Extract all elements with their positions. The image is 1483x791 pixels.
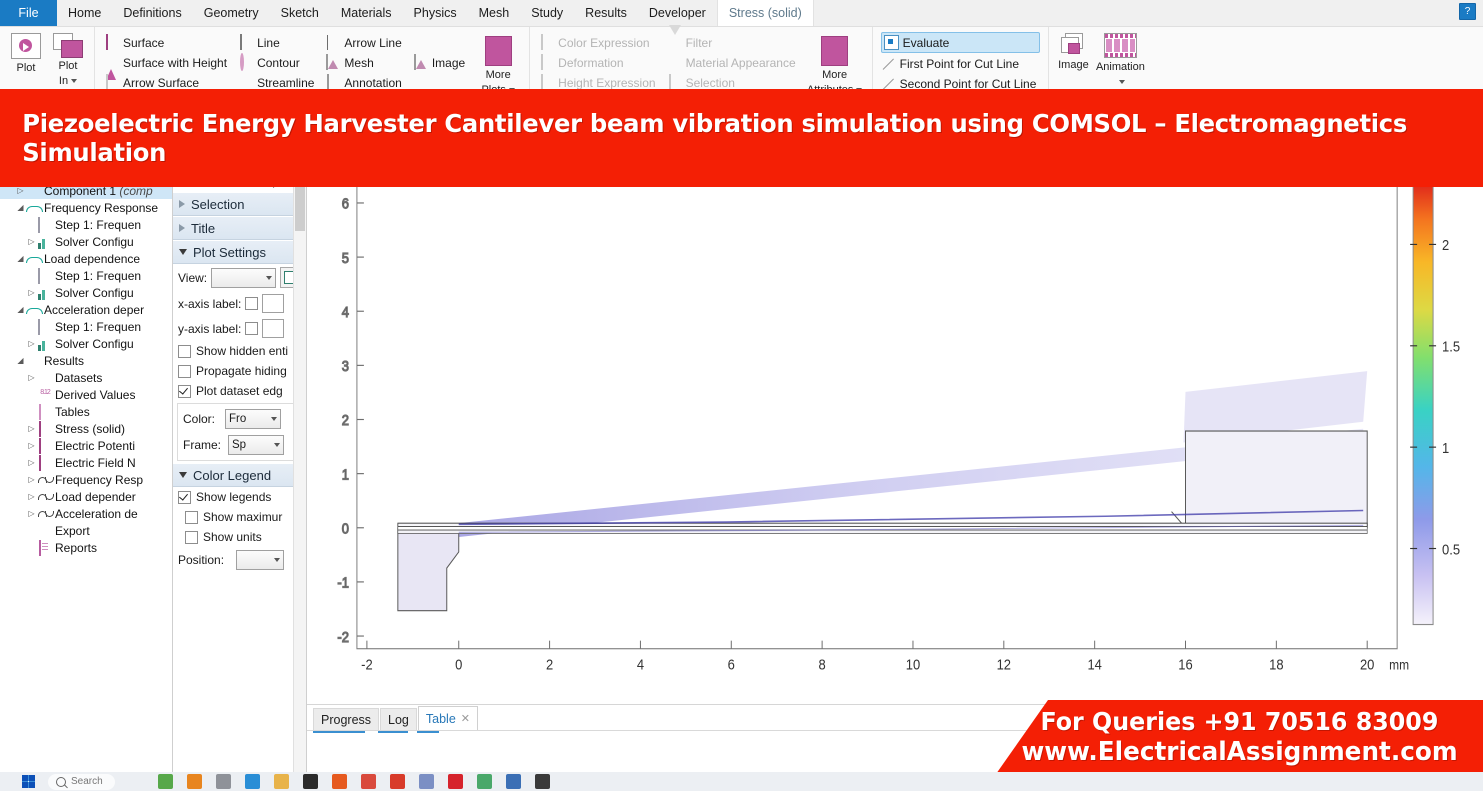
svg-text:2: 2	[546, 656, 553, 673]
expand-arrow-icon[interactable]: ▷	[26, 471, 37, 488]
ribbon-item-filter: Filter	[666, 33, 800, 52]
chevron-down-icon	[179, 472, 187, 478]
xaxis-label-caption: x-axis label:	[178, 297, 241, 311]
menu-item-definitions[interactable]: Definitions	[112, 0, 192, 26]
surface-height-icon	[104, 55, 119, 70]
app-icon-terminal[interactable]	[303, 774, 318, 789]
tree-node-export[interactable]: Export	[0, 522, 172, 539]
svg-text:12: 12	[997, 656, 1012, 673]
study-wave-icon	[26, 201, 41, 215]
ribbon-group-plot-types: Surface Surface with Height Arrow Surfac…	[95, 27, 530, 96]
tree-node-reports[interactable]: Reports	[0, 539, 172, 556]
top-banner-title: Piezoelectric Energy Harvester Cantileve…	[22, 109, 1461, 167]
yaxis-label-caption: y-axis label:	[178, 322, 241, 336]
frame-caption: Frame:	[183, 438, 221, 452]
tree-node-label: Step 1: Frequen	[55, 269, 141, 283]
app-icon-matlab[interactable]	[419, 774, 434, 789]
svg-text:0: 0	[342, 520, 349, 537]
collapse-arrow-icon[interactable]: ◢	[15, 199, 26, 216]
settings-scrollbar[interactable]: ▲ ▼	[293, 97, 306, 791]
tree-node-solver-configu[interactable]: ▷Solver Configu	[0, 335, 172, 352]
expand-arrow-icon[interactable]: ▷	[26, 488, 37, 505]
xaxis-label-checkbox[interactable]	[245, 297, 258, 310]
tree-node-label: Electric Field N	[55, 456, 136, 470]
tree-node-datasets[interactable]: ▷Datasets	[0, 369, 172, 386]
tree-node-label: Frequency Resp	[55, 473, 143, 487]
app-icon-orange[interactable]	[187, 774, 202, 789]
deformation-icon	[539, 55, 554, 70]
tab-progress[interactable]: Progress	[313, 708, 379, 730]
plot-group-icon	[37, 422, 52, 436]
svg-text:20: 20	[1360, 656, 1375, 673]
taskbar-search-box[interactable]: Search	[48, 774, 115, 790]
menu-item-stress-solid[interactable]: Stress (solid)	[717, 0, 814, 26]
image-button[interactable]: Image	[1054, 29, 1092, 96]
svg-text:5: 5	[342, 249, 349, 266]
animation-button[interactable]: Animation	[1092, 29, 1148, 96]
tree-node-results[interactable]: ◢Results	[0, 352, 172, 369]
chevron-right-icon	[179, 224, 185, 232]
svg-text:0: 0	[455, 656, 462, 673]
chevron-down-icon	[274, 558, 280, 562]
tree-node-load-dependence[interactable]: ◢Load dependence	[0, 250, 172, 267]
chevron-down-icon	[274, 443, 280, 447]
image-icon	[1060, 33, 1087, 56]
app-icon-comsol[interactable]	[477, 774, 492, 789]
app-icon-ansys[interactable]	[448, 774, 463, 789]
search-placeholder: Search	[71, 776, 103, 787]
curve-plot-icon	[37, 473, 52, 487]
tree-node-frequency-response[interactable]: ◢Frequency Response	[0, 199, 172, 216]
windows-taskbar: Search	[0, 772, 1483, 791]
search-icon	[56, 777, 66, 787]
menu-item-results[interactable]: Results	[574, 0, 638, 26]
tree-node-label: Acceleration deper	[44, 303, 144, 317]
svg-text:8: 8	[819, 656, 826, 673]
svg-text:-2: -2	[361, 656, 373, 673]
help-icon[interactable]: ?	[1459, 3, 1476, 20]
app-icon-folder[interactable]	[274, 774, 289, 789]
plot-dataset-edges-checkbox[interactable]	[178, 385, 191, 398]
tree-node-acceleration-de[interactable]: ▷Acceleration de	[0, 505, 172, 522]
ribbon-toolbar: Plot Plot In Surface Surface with Height…	[0, 27, 1483, 97]
ribbon-col-attr-1: Color Expression Deformation Height Expr…	[535, 29, 662, 96]
color-caption: Color:	[183, 412, 215, 426]
frame-row: Frame: Sp	[178, 432, 301, 458]
tab-underline-progress	[313, 731, 365, 733]
tree-node-stress-solid[interactable]: ▷Stress (solid)	[0, 420, 172, 437]
tables-icon	[37, 405, 52, 419]
chevron-right-icon	[179, 200, 185, 208]
color-expression-icon	[539, 35, 554, 50]
expand-arrow-icon[interactable]: ▷	[26, 335, 37, 352]
collapse-arrow-icon[interactable]: ◢	[15, 352, 26, 369]
ribbon-item-image[interactable]: Image	[412, 53, 469, 72]
view-caption: View:	[178, 271, 207, 285]
view-row: View:	[173, 264, 306, 291]
svg-text:18: 18	[1269, 656, 1284, 673]
ribbon-group-export: Image Animation	[1049, 27, 1153, 96]
more-plots-icon	[485, 36, 512, 66]
ribbon-col-1: Surface Surface with Height Arrow Surfac…	[100, 29, 234, 96]
evaluate-icon	[884, 35, 899, 50]
tree-node-label: Frequency Response	[44, 201, 158, 215]
plot-group-icon	[37, 456, 52, 470]
svg-text:1: 1	[342, 466, 349, 483]
close-icon[interactable]: ✕	[461, 712, 470, 725]
tree-node-label: Load dependence	[44, 252, 140, 266]
curve-plot-icon	[37, 507, 52, 521]
tree-node-electric-field-n[interactable]: ▷Electric Field N	[0, 454, 172, 471]
ribbon-col-eval: Evaluate First Point for Cut Line Second…	[878, 29, 1044, 96]
stress-surface-plot[interactable]: 7 6 5 4 3 2 1 0 -1 -2 -2 0	[307, 97, 1483, 704]
app-icon-edge[interactable]	[245, 774, 260, 789]
chevron-down-icon	[271, 417, 277, 421]
tab-underline-log	[378, 731, 408, 733]
tree-node-solver-configu[interactable]: ▷Solver Configu	[0, 284, 172, 301]
study-step-icon	[37, 269, 52, 283]
ribbon-group-attributes: Color Expression Deformation Height Expr…	[530, 27, 872, 96]
tree-node-label: Acceleration de	[55, 507, 138, 521]
show-units-row[interactable]: Show units	[173, 527, 306, 547]
tree-node-label: Solver Configu	[55, 337, 134, 351]
tab-log[interactable]: Log	[380, 708, 417, 730]
yaxis-label-checkbox[interactable]	[245, 322, 258, 335]
study-step-icon	[37, 320, 52, 334]
plot-button[interactable]: Plot	[5, 29, 47, 96]
svg-text:4: 4	[637, 656, 644, 673]
settings-panel: Label: Stress ( Data Dataset: Parameter …	[173, 97, 307, 791]
tree-node-step-1-frequen[interactable]: Step 1: Frequen	[0, 216, 172, 233]
workspace: ◢piezoelectric_energy_h◢Global Definitio…	[0, 97, 1483, 791]
chevron-down-icon	[1119, 80, 1125, 84]
tree-node-step-1-frequen[interactable]: Step 1: Frequen	[0, 318, 172, 335]
solver-icon	[37, 235, 52, 249]
show-legends-row[interactable]: Show legends	[173, 487, 306, 507]
show-legends-checkbox[interactable]	[178, 491, 191, 504]
more-attributes-icon	[821, 36, 848, 66]
tree-node-label: Solver Configu	[55, 235, 134, 249]
graphics-window: Surface: von Mises stress (peak) (N/m²)	[307, 97, 1483, 791]
chevron-down-icon	[71, 79, 77, 83]
model-tree-list[interactable]: ◢piezoelectric_energy_h◢Global Definitio…	[0, 97, 172, 772]
section-color-legend[interactable]: Color Legend	[173, 463, 306, 487]
open-square-icon	[238, 35, 253, 50]
queries-phone-line: For Queries +91 70516 83009	[1041, 707, 1439, 736]
arrow-surface-icon	[104, 75, 119, 90]
tree-node-step-1-frequen[interactable]: Step 1: Frequen	[0, 267, 172, 284]
color-legend: ×107 2 1.5 1 0.5	[1410, 117, 1460, 624]
tree-node-derived-values[interactable]: 8.12Derived Values	[0, 386, 172, 403]
bottom-promo-banner: For Queries +91 70516 83009 www.Electric…	[996, 700, 1483, 774]
solver-icon	[37, 286, 52, 300]
ribbon-item-color-expression: Color Expression	[538, 33, 659, 52]
svg-text:6: 6	[728, 656, 735, 673]
ribbon-item-surface[interactable]: Surface	[103, 33, 231, 52]
image-plot-icon	[413, 55, 428, 70]
svg-text:2: 2	[1442, 236, 1449, 253]
expand-arrow-icon[interactable]: ▷	[26, 437, 37, 454]
plot-icon	[11, 33, 41, 59]
svg-text:-2: -2	[337, 628, 349, 645]
height-expression-icon	[539, 75, 554, 90]
ribbon-item-mesh[interactable]: Mesh	[324, 53, 405, 72]
tree-node-label: Datasets	[55, 371, 102, 385]
plot-in-icon	[53, 33, 83, 57]
menu-item-physics[interactable]: Physics	[403, 0, 468, 26]
derived-values-icon: 8.12	[37, 388, 52, 402]
xaxis-label-row: x-axis label:	[173, 291, 306, 316]
frame-select[interactable]: Sp	[228, 435, 284, 455]
tree-node-label: Step 1: Frequen	[55, 320, 141, 334]
tree-node-load-depender[interactable]: ▷Load depender	[0, 488, 172, 505]
tree-node-tables[interactable]: Tables	[0, 403, 172, 420]
tree-node-solver-configu[interactable]: ▷Solver Configu	[0, 233, 172, 250]
tree-node-label: Derived Values	[55, 388, 135, 402]
tree-node-label: Export	[55, 524, 90, 538]
app-icon-green[interactable]	[158, 774, 173, 789]
tab-table[interactable]: Table ✕	[418, 706, 478, 730]
taskbar-app-list	[158, 774, 550, 789]
plot-canvas[interactable]: Surface: von Mises stress (peak) (N/m²)	[307, 97, 1483, 704]
annotation-icon	[325, 75, 340, 90]
color-select[interactable]: Fro	[225, 409, 281, 429]
tree-node-label: Step 1: Frequen	[55, 218, 141, 232]
svg-text:6: 6	[342, 195, 349, 212]
datasets-icon	[37, 371, 52, 385]
xaxis-unit-label: mm	[1389, 657, 1409, 673]
model-builder-tree: ◢piezoelectric_energy_h◢Global Definitio…	[0, 97, 173, 791]
svg-text:-1: -1	[337, 574, 349, 591]
menu-item-developer[interactable]: Developer	[638, 0, 717, 26]
mesh-icon	[325, 55, 340, 70]
tree-node-label: Solver Configu	[55, 286, 134, 300]
app-icon-office[interactable]	[390, 774, 405, 789]
show-hidden-entities-row[interactable]: Show hidden enti	[173, 341, 306, 361]
plot-dataset-edges-row[interactable]: Plot dataset edg	[173, 381, 306, 401]
svg-text:3: 3	[342, 357, 349, 374]
propagate-hiding-checkbox[interactable]	[178, 365, 191, 378]
tree-node-frequency-resp[interactable]: ▷Frequency Resp	[0, 471, 172, 488]
material-appearance-icon	[667, 55, 682, 70]
plot-in-button[interactable]: Plot In	[47, 29, 89, 96]
menu-bar: File Home Definitions Geometry Sketch Ma…	[0, 0, 1483, 27]
tree-node-electric-potenti[interactable]: ▷Electric Potenti	[0, 437, 172, 454]
ribbon-item-deformation: Deformation	[538, 53, 659, 72]
app-icon-chrome[interactable]	[361, 774, 376, 789]
chevron-down-icon	[266, 276, 272, 280]
ribbon-group-plot: Plot Plot In	[0, 27, 95, 96]
study-step-icon	[37, 218, 52, 232]
collapse-arrow-icon[interactable]: ◢	[15, 250, 26, 267]
app-icon-firefox[interactable]	[332, 774, 347, 789]
cut-line-icon	[882, 57, 896, 71]
view-select[interactable]	[211, 268, 276, 288]
expand-arrow-icon[interactable]: ▷	[26, 420, 37, 437]
expand-arrow-icon[interactable]: ▷	[26, 233, 37, 250]
svg-text:14: 14	[1087, 656, 1102, 673]
svg-text:0.5: 0.5	[1442, 540, 1460, 557]
ribbon-col-4: Image	[409, 29, 472, 96]
svg-text:2: 2	[342, 411, 349, 428]
ribbon-item-contour[interactable]: Contour	[237, 53, 318, 72]
svg-text:4: 4	[342, 303, 349, 320]
arrow-line-icon	[325, 35, 340, 50]
section-title[interactable]: Title	[173, 216, 306, 240]
app-icon-other[interactable]	[535, 774, 550, 789]
ribbon-item-surface-with-height[interactable]: Surface with Height	[103, 53, 231, 72]
app-icon-explorer[interactable]	[216, 774, 231, 789]
website-line: www.ElectricalAssignment.com	[1021, 737, 1457, 767]
filled-square-icon	[104, 35, 119, 50]
evaluate-button[interactable]: Evaluate	[881, 32, 1041, 53]
menu-item-study[interactable]: Study	[520, 0, 574, 26]
show-units-checkbox[interactable]	[185, 531, 198, 544]
ribbon-col-3: Arrow Line Mesh Annotation	[321, 29, 408, 96]
filter-icon	[667, 35, 682, 50]
tree-node-label: Tables	[55, 405, 90, 419]
svg-text:10: 10	[906, 656, 921, 673]
position-caption: Position:	[178, 553, 224, 567]
expand-arrow-icon[interactable]: ▷	[26, 454, 37, 471]
solver-icon	[37, 337, 52, 351]
position-row: Position:	[173, 547, 306, 573]
reports-icon	[37, 541, 52, 555]
selection-icon	[667, 75, 682, 90]
more-plots-button[interactable]: More Plots	[472, 29, 524, 96]
tree-node-label: Stress (solid)	[55, 422, 125, 436]
position-select[interactable]	[236, 550, 284, 570]
results-icon	[26, 354, 41, 368]
tree-node-label: Reports	[55, 541, 97, 555]
streamline-icon	[238, 75, 253, 90]
expand-arrow-icon[interactable]: ▷	[26, 284, 37, 301]
yaxis-label-input[interactable]	[262, 319, 284, 338]
menu-item-materials[interactable]: Materials	[330, 0, 403, 26]
menu-item-mesh[interactable]: Mesh	[468, 0, 521, 26]
tab-underline-table	[417, 731, 439, 733]
ribbon-item-line[interactable]: Line	[237, 33, 318, 52]
edges-options-frame: Color: Fro Frame: Sp	[177, 403, 302, 461]
propagate-hiding-row[interactable]: Propagate hiding	[173, 361, 306, 381]
show-hidden-entities-checkbox[interactable]	[178, 345, 191, 358]
menu-item-file[interactable]: File	[0, 0, 57, 26]
menu-item-geometry[interactable]: Geometry	[193, 0, 270, 26]
svg-text:1: 1	[1442, 439, 1449, 456]
ribbon-item-arrow-line[interactable]: Arrow Line	[324, 33, 405, 52]
show-maximum-checkbox[interactable]	[185, 511, 198, 524]
top-promo-banner: Piezoelectric Energy Harvester Cantileve…	[0, 89, 1483, 187]
ribbon-col-2: Line Contour Streamline	[234, 29, 321, 96]
more-attributes-button[interactable]: More Attributes	[803, 29, 867, 96]
section-selection[interactable]: Selection	[173, 192, 306, 216]
first-point-cut-line-button[interactable]: First Point for Cut Line	[881, 54, 1041, 73]
ribbon-group-evaluate: Evaluate First Point for Cut Line Second…	[873, 27, 1050, 96]
plot-group-icon	[37, 439, 52, 453]
color-row: Color: Fro	[178, 406, 301, 432]
study-wave-icon	[26, 303, 41, 317]
windows-start-icon[interactable]	[22, 775, 35, 788]
curve-plot-icon	[37, 490, 52, 504]
tree-node-acceleration-deper[interactable]: ◢Acceleration deper	[0, 301, 172, 318]
yaxis-label-row: y-axis label:	[173, 316, 306, 341]
svg-text:16: 16	[1178, 656, 1193, 673]
tree-node-label: Results	[44, 354, 84, 368]
study-wave-icon	[26, 252, 41, 266]
collapse-arrow-icon[interactable]: ◢	[15, 301, 26, 318]
section-plot-settings[interactable]: Plot Settings	[173, 240, 306, 264]
export-icon	[37, 524, 52, 538]
svg-text:1.5: 1.5	[1442, 338, 1460, 355]
animation-icon	[1104, 33, 1137, 58]
expand-arrow-icon[interactable]: ▷	[26, 369, 37, 386]
expand-arrow-icon[interactable]: ▷	[26, 505, 37, 522]
chevron-down-icon	[179, 249, 187, 255]
show-maximum-row[interactable]: Show maximur	[173, 507, 306, 527]
contour-icon	[238, 55, 253, 70]
menu-item-home[interactable]: Home	[57, 0, 112, 26]
ribbon-col-attr-2: Filter Material Appearance Selection	[663, 29, 803, 96]
app-icon-solidworks[interactable]	[506, 774, 521, 789]
ribbon-item-material-appearance: Material Appearance	[666, 53, 800, 72]
menu-item-sketch[interactable]: Sketch	[270, 0, 330, 26]
tree-node-label: Load depender	[55, 490, 136, 504]
tree-node-label: Electric Potenti	[55, 439, 135, 453]
xaxis-label-input[interactable]	[262, 294, 284, 313]
